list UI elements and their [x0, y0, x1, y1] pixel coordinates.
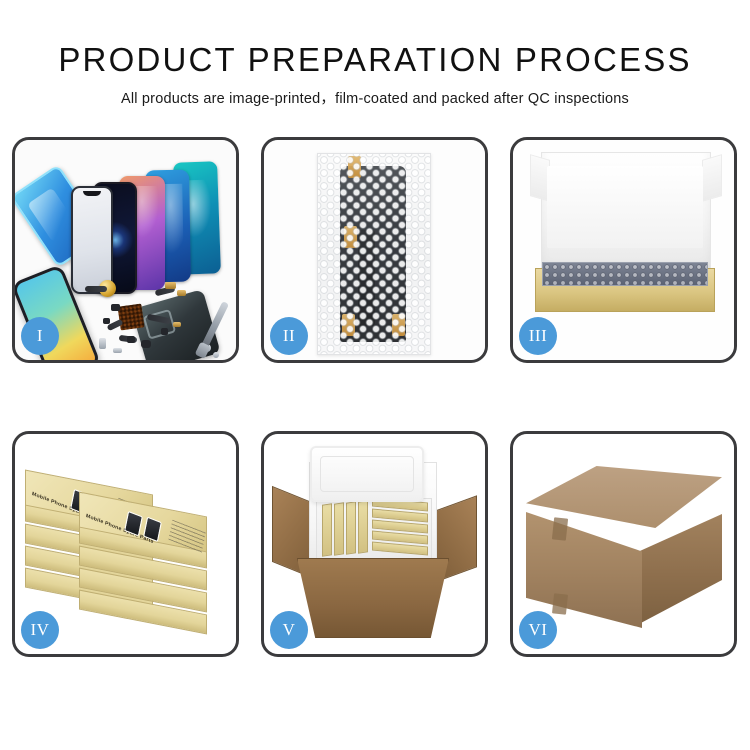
step-card-1[interactable]: I [12, 137, 239, 363]
step-card-6[interactable]: VI [510, 431, 737, 657]
camera-part [161, 328, 168, 335]
phone-screen-1 [71, 186, 113, 294]
small-part-3 [127, 336, 135, 343]
inner-box-slab-3 [346, 501, 356, 555]
gold-connector-3 [173, 322, 181, 327]
ic-chip-part [117, 303, 144, 330]
step-card-3[interactable]: III [510, 137, 737, 363]
inner-box-slab-1 [322, 503, 332, 557]
bubble-texture [318, 154, 430, 354]
carton-tape-upper [552, 517, 568, 540]
process-step-grid: I II III [12, 137, 738, 657]
carton-side-face [639, 514, 722, 624]
sim-tray-part [99, 338, 106, 349]
gold-connector-1 [165, 282, 176, 289]
page-title: PRODUCT PREPARATION PROCESS [0, 40, 750, 80]
foam-lid [310, 446, 424, 502]
small-part-2 [103, 318, 110, 324]
bubble-wrapped-contents [542, 262, 708, 286]
inner-box-slab-2 [334, 502, 344, 556]
gold-connector-2 [177, 290, 186, 296]
step-badge-5: V [270, 611, 308, 649]
step-badge-1: I [21, 317, 59, 355]
step-card-4[interactable]: Mobile Phone Spare Parts Mobile Phone Sp… [12, 431, 239, 657]
bracket-part [113, 348, 122, 353]
speaker-part [141, 340, 151, 348]
inner-box-slab-4 [358, 500, 368, 554]
foam-sheet [547, 166, 703, 248]
page-header: PRODUCT PREPARATION PROCESS All products… [0, 0, 750, 108]
step-badge-6: VI [519, 611, 557, 649]
phone-notch [83, 191, 101, 196]
step-badge-2: II [270, 317, 308, 355]
flex-cable-1 [85, 286, 107, 292]
step-card-2[interactable]: II [261, 137, 488, 363]
step-badge-4: IV [21, 611, 59, 649]
page-subtitle: All products are image-printed，film-coat… [0, 90, 750, 108]
step-badge-3: III [519, 317, 557, 355]
bubble-wrap-bag [317, 153, 431, 355]
carton-body [297, 558, 449, 638]
carton-tape-lower [552, 593, 568, 614]
screw-part-2 [213, 352, 219, 358]
small-part-1 [111, 304, 120, 311]
step-card-5[interactable]: V [261, 431, 488, 657]
carton-front-face [526, 512, 642, 628]
